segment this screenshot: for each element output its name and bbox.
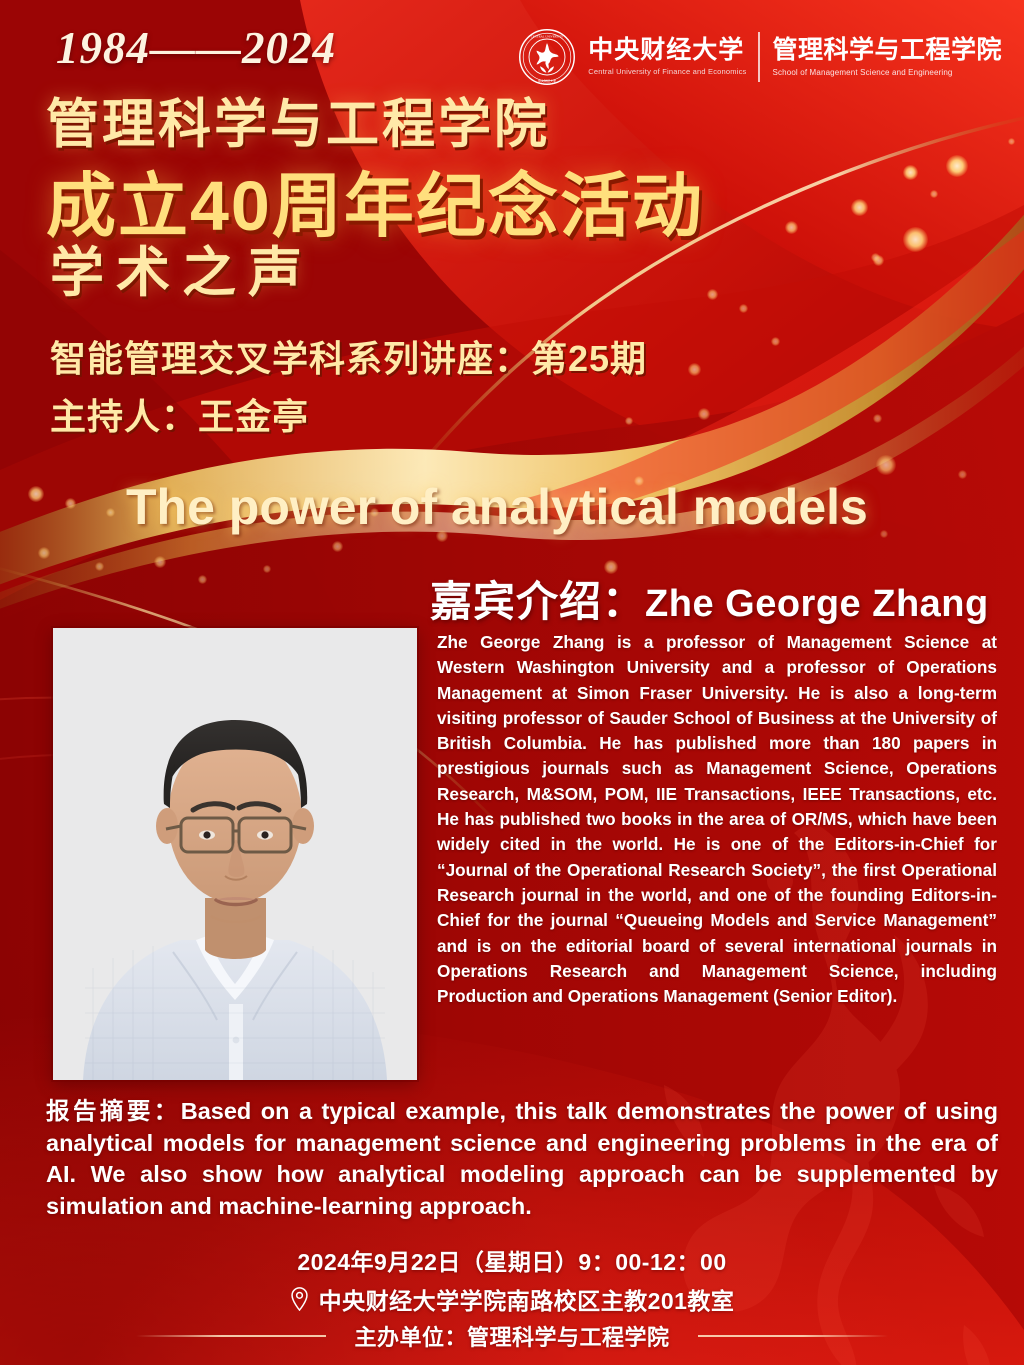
organizer-rule-right <box>698 1335 888 1337</box>
lecture-series-line: 智能管理交叉学科系列讲座：第25期 <box>50 330 647 382</box>
svg-text:CENTRAL UNIVERSITY: CENTRAL UNIVERSITY <box>531 34 564 38</box>
abstract-label: 报告摘要： <box>46 1098 181 1124</box>
guest-heading-label: 嘉宾介绍： <box>430 578 645 625</box>
host-line: 主持人：王金亭 <box>50 388 309 440</box>
university-logo-block: CENTRAL UNIVERSITY 中央财经大学 中央财经大学 Central… <box>518 28 1002 86</box>
university-seal-icon: CENTRAL UNIVERSITY 中央财经大学 <box>518 28 576 86</box>
organizer-row: 主办单位：管理科学与工程学院 <box>0 1320 1024 1352</box>
organizer-rule-left <box>136 1335 326 1337</box>
event-location-row: 中央财经大学学院南路校区主教201教室 <box>0 1282 1024 1316</box>
speaker-portrait-illustration <box>53 628 417 1080</box>
speaker-bio: Zhe George Zhang is a professor of Manag… <box>437 630 997 1009</box>
event-datetime: 2024年9月22日（星期日）9：00-12：00 <box>0 1243 1024 1277</box>
guest-heading: 嘉宾介绍：Zhe George Zhang <box>430 568 989 629</box>
abstract-text: Based on a typical example, this talk de… <box>46 1098 998 1219</box>
talk-title-english: The power of analytical models <box>126 478 868 536</box>
title-college: 管理科学与工程学院 <box>46 82 550 158</box>
anniversary-years: 1984——2024 <box>56 22 336 74</box>
title-academic-voice: 学术之声 <box>50 228 314 307</box>
school-name-block: 管理科学与工程学院 School of Management Science a… <box>772 37 1002 76</box>
map-pin-icon <box>290 1287 309 1311</box>
speaker-photo <box>53 628 417 1080</box>
event-location-text: 中央财经大学学院南路校区主教201教室 <box>319 1282 735 1316</box>
guest-name: Zhe George Zhang <box>645 583 989 625</box>
university-name-block: 中央财经大学 Central University of Finance and… <box>588 38 746 76</box>
organizer-text: 主办单位：管理科学与工程学院 <box>354 1320 669 1352</box>
school-name-en: School of Management Science and Enginee… <box>772 68 952 77</box>
talk-abstract: 报告摘要：Based on a typical example, this ta… <box>46 1096 998 1222</box>
poster-root: 1984——2024 CENTRAL UNIVERSITY 中央财经大学 中央财… <box>0 0 1024 1365</box>
logo-divider <box>758 32 760 82</box>
university-name-en: Central University of Finance and Econom… <box>588 67 746 76</box>
university-name-cn: 中央财经大学 <box>588 38 744 64</box>
school-name-cn: 管理科学与工程学院 <box>772 37 1002 63</box>
